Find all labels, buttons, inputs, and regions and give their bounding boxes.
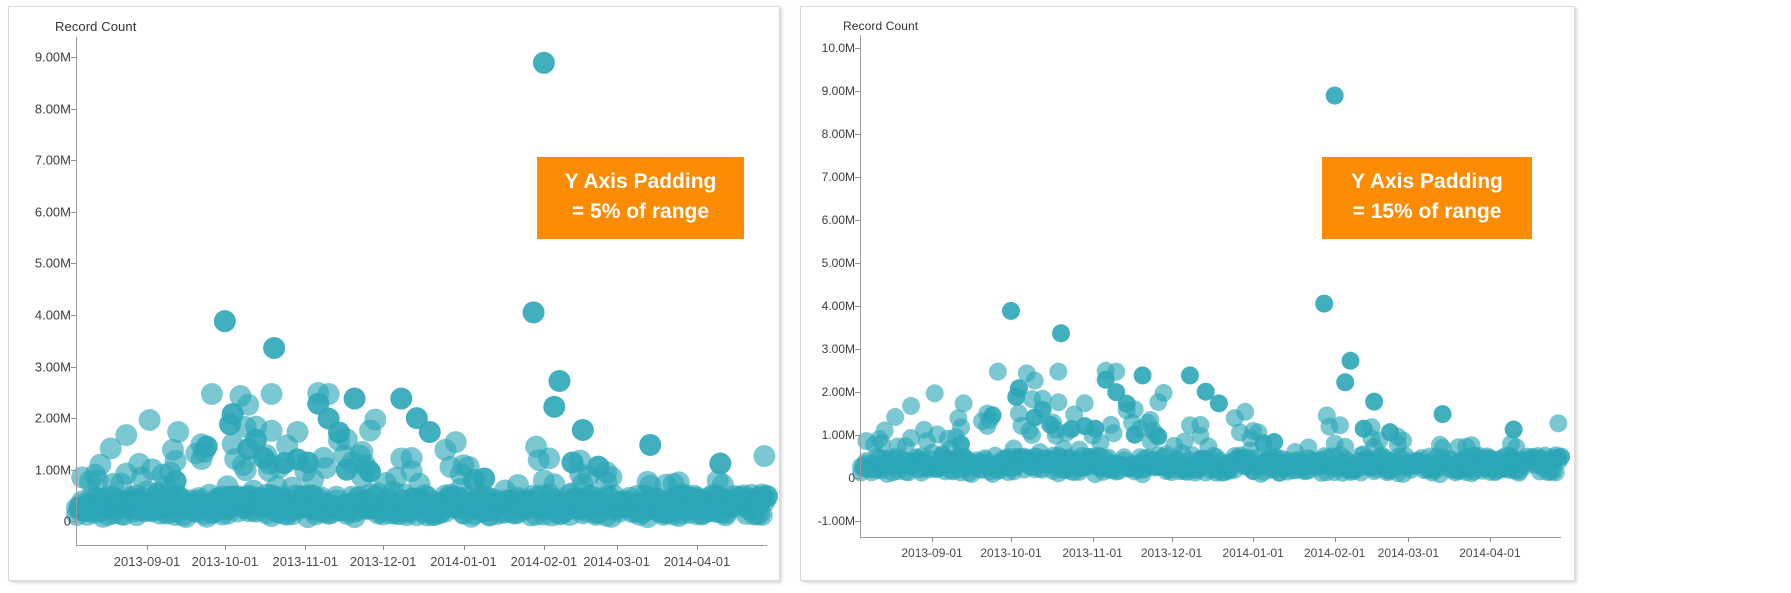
x-tick-mark [1093, 537, 1094, 542]
x-tick-label: 2013-10-01 [980, 546, 1041, 560]
y-tick-label: 1.00M [31, 462, 71, 477]
x-tick-mark [383, 545, 384, 550]
y-tick-label: 3.00M [815, 342, 855, 356]
y-tick-label: 6.00M [31, 204, 71, 219]
x-tick-mark [544, 545, 545, 550]
x-tick-mark [225, 545, 226, 550]
x-tick-mark [1253, 537, 1254, 542]
scatter-plot-left[interactable] [77, 37, 767, 545]
x-axis-line [76, 545, 767, 546]
y-tick-label: 9.00M [31, 50, 71, 65]
y-tick-label: 6.00M [815, 213, 855, 227]
y-tick-label: 8.00M [815, 127, 855, 141]
y-axis-title-right: Record Count [843, 19, 918, 33]
x-tick-mark [1408, 537, 1409, 542]
x-tick-label: 2014-04-01 [1459, 546, 1520, 560]
x-tick-label: 2014-01-01 [430, 554, 497, 569]
x-tick-mark [1335, 537, 1336, 542]
x-tick-mark [1490, 537, 1491, 542]
x-tick-label: 2013-11-01 [1062, 546, 1123, 560]
x-tick-label: 2013-11-01 [272, 554, 338, 569]
y-tick-label: 2.00M [815, 385, 855, 399]
x-tick-mark [464, 545, 465, 550]
x-tick-mark [617, 545, 618, 550]
x-tick-label: 2014-03-01 [1378, 546, 1439, 560]
x-tick-label: 2014-04-01 [664, 554, 731, 569]
scatter-marks [861, 35, 1561, 539]
y-tick-label: 7.00M [815, 170, 855, 184]
x-axis-line [860, 537, 1561, 538]
y-axis-title-left: Record Count [55, 19, 136, 34]
y-tick-label: -1.00M [815, 514, 855, 528]
chart-panel-right: Record Count -1.00M01.00M2.00M3.00M4.00M… [800, 6, 1575, 581]
x-tick-mark [1172, 537, 1173, 542]
y-tick-label: 4.00M [815, 299, 855, 313]
x-tick-label: 2013-12-01 [350, 554, 417, 569]
x-tick-mark [932, 537, 933, 542]
y-tick-label: 9.00M [815, 84, 855, 98]
y-tick-label: 3.00M [31, 359, 71, 374]
annotation-line-1: Y Axis Padding [1340, 167, 1514, 197]
annotation-badge-left: Y Axis Padding = 5% of range [537, 157, 744, 239]
x-tick-label: 2014-02-01 [511, 554, 578, 569]
y-tick-label: 5.00M [815, 256, 855, 270]
y-tick-label: 0 [31, 514, 71, 529]
x-tick-label: 2013-09-01 [901, 546, 962, 560]
x-tick-mark [147, 545, 148, 550]
annotation-line-2: = 15% of range [1340, 197, 1514, 227]
scatter-plot-right[interactable] [861, 35, 1561, 537]
y-tick-label: 7.00M [31, 153, 71, 168]
x-tick-mark [1011, 537, 1012, 542]
chart-panel-left: Record Count 01.00M2.00M3.00M4.00M5.00M6… [8, 6, 780, 581]
annotation-line-2: = 5% of range [555, 197, 726, 227]
y-tick-label: 1.00M [815, 428, 855, 442]
y-tick-label: 8.00M [31, 101, 71, 116]
annotation-line-1: Y Axis Padding [555, 167, 726, 197]
x-tick-mark [305, 545, 306, 550]
comparison-figure: Record Count 01.00M2.00M3.00M4.00M5.00M6… [0, 0, 1791, 593]
x-tick-label: 2014-02-01 [1304, 546, 1365, 560]
x-tick-label: 2013-12-01 [1141, 546, 1202, 560]
x-tick-label: 2013-09-01 [114, 554, 181, 569]
y-tick-label: 5.00M [31, 256, 71, 271]
y-tick-label: 2.00M [31, 411, 71, 426]
annotation-badge-right: Y Axis Padding = 15% of range [1322, 157, 1532, 239]
scatter-marks [77, 37, 767, 547]
y-axis-line [76, 37, 77, 545]
y-tick-label: 10.0M [815, 41, 855, 55]
x-tick-label: 2014-03-01 [583, 554, 650, 569]
x-tick-mark [697, 545, 698, 550]
y-tick-label: 4.00M [31, 307, 71, 322]
x-tick-label: 2013-10-01 [192, 554, 259, 569]
y-axis-line [860, 35, 861, 537]
x-tick-label: 2014-01-01 [1222, 546, 1283, 560]
y-tick-label: 0 [815, 471, 855, 485]
